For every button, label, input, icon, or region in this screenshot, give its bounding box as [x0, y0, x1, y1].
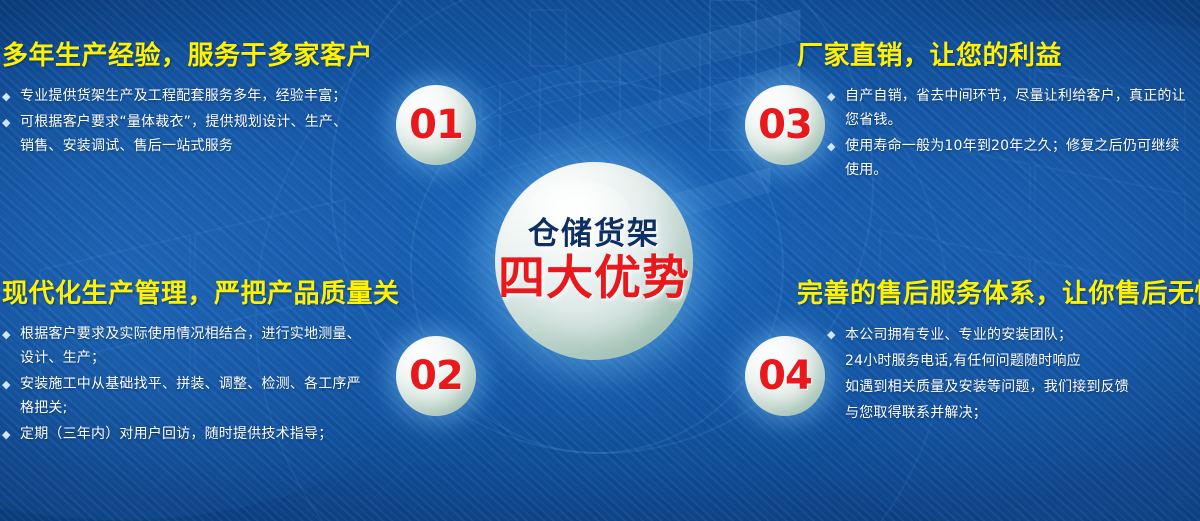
bullet-diamond-icon: ◆ — [2, 329, 20, 340]
center-title-bottom: 四大优势 — [498, 254, 690, 303]
bullet-diamond-icon: ◆ — [2, 429, 20, 440]
section-heading: 完善的售后服务体系，让你售后无忧 — [797, 280, 1197, 309]
advantage-section-02: 现代化生产管理，严把产品质量关 ◆根据客户要求及实际使用情况相结合，进行实地测量… — [2, 280, 402, 448]
number-badge-01: 01 — [396, 85, 476, 165]
advantage-section-01: 多年生产经验，服务于多家客户 ◆专业提供货架生产及工程配套服务多年，经验丰富；◆… — [2, 42, 402, 160]
bullet-item: ◆使用寿命一般为10年到20年之久；修复之后仍可继续使用。 — [827, 134, 1197, 182]
bullet-text: 定期（三年内）对用户回访，随时提供技术指导； — [20, 422, 332, 446]
bullet-line: 专业提供货架生产及工程配套服务多年，经验丰富； — [20, 84, 347, 108]
badge-number-label: 02 — [409, 356, 463, 396]
section-bullet-list: ◆自产自销，省去中间环节，尽量让利给客户，真正的让您省钱。◆使用寿命一般为10年… — [827, 84, 1197, 182]
bullet-line: 安装施工中从基础找平、拼装、调整、检测、各工序严 — [20, 372, 361, 396]
bullet-line: 销售、安装调试、售后一站式服务 — [20, 134, 347, 158]
bullet-line: 您省钱。 — [845, 108, 1186, 132]
infographic-canvas: 仓储货架 四大优势 01 02 03 04 多年生产经验，服务于多家客户 ◆专业… — [0, 0, 1200, 521]
bullet-diamond-icon: ◆ — [2, 117, 20, 128]
bullet-text: 根据客户要求及实际使用情况相结合，进行实地测量、设计、生产； — [20, 322, 361, 370]
section-heading: 多年生产经验，服务于多家客户 — [2, 42, 402, 71]
center-title-top: 仓储货架 — [528, 219, 660, 250]
bullet-line: 格把关; — [20, 396, 361, 420]
section-bullet-list: ◆根据客户要求及实际使用情况相结合，进行实地测量、设计、生产；◆安装施工中从基础… — [2, 322, 402, 446]
bullet-line: 24小时服务电话,有任何问题随时响应 — [845, 348, 1129, 374]
badge-number-label: 01 — [409, 105, 463, 145]
bullet-item: ◆根据客户要求及实际使用情况相结合，进行实地测量、设计、生产； — [2, 322, 402, 370]
bullet-text: 可根据客户要求“量体裁衣”，提供规划设计、生产、销售、安装调试、售后一站式服务 — [20, 110, 347, 158]
advantage-section-03: 厂家直销，让您的利益 ◆自产自销，省去中间环节，尽量让利给客户，真正的让您省钱。… — [797, 42, 1197, 184]
bullet-text: 专业提供货架生产及工程配套服务多年，经验丰富； — [20, 84, 347, 108]
bullet-text: 安装施工中从基础找平、拼装、调整、检测、各工序严格把关; — [20, 372, 361, 420]
bullet-line: 自产自销，省去中间环节，尽量让利给客户，真正的让 — [845, 84, 1186, 108]
bullet-diamond-icon: ◆ — [2, 379, 20, 390]
bullet-line: 根据客户要求及实际使用情况相结合，进行实地测量、 — [20, 322, 361, 346]
bullet-diamond-icon: ◆ — [2, 91, 20, 102]
bullet-diamond-icon: ◆ — [827, 91, 845, 102]
bullet-line: 与您取得联系并解决； — [845, 400, 1129, 426]
bullet-line: 如遇到相关质量及安装等问题，我们接到反馈 — [845, 374, 1129, 400]
bullet-line: 本公司拥有专业、专业的安装团队； — [845, 322, 1129, 348]
advantage-section-04: 完善的售后服务体系，让你售后无忧 ◆本公司拥有专业、专业的安装团队；24小时服务… — [797, 280, 1197, 428]
bullet-item: ◆安装施工中从基础找平、拼装、调整、检测、各工序严格把关; — [2, 372, 402, 420]
section-heading: 厂家直销，让您的利益 — [797, 42, 1197, 71]
center-title-sphere: 仓储货架 四大优势 — [495, 162, 693, 360]
bullet-line: 使用。 — [845, 158, 1180, 182]
bullet-line: 定期（三年内）对用户回访，随时提供技术指导； — [20, 422, 332, 446]
bullet-line: 使用寿命一般为10年到20年之久；修复之后仍可继续 — [845, 134, 1180, 158]
section-bullet-list: ◆本公司拥有专业、专业的安装团队；24小时服务电话,有任何问题随时响应如遇到相关… — [827, 322, 1197, 426]
section-heading: 现代化生产管理，严把产品质量关 — [2, 280, 402, 309]
bullet-item: ◆自产自销，省去中间环节，尽量让利给客户，真正的让您省钱。 — [827, 84, 1197, 132]
bullet-diamond-icon: ◆ — [827, 329, 845, 340]
bullet-text: 使用寿命一般为10年到20年之久；修复之后仍可继续使用。 — [845, 134, 1180, 182]
bullet-item: ◆定期（三年内）对用户回访，随时提供技术指导； — [2, 422, 402, 446]
bullet-text: 自产自销，省去中间环节，尽量让利给客户，真正的让您省钱。 — [845, 84, 1186, 132]
bullet-line: 设计、生产； — [20, 346, 361, 370]
bullet-item: ◆专业提供货架生产及工程配套服务多年，经验丰富； — [2, 84, 402, 108]
bullet-line: 可根据客户要求“量体裁衣”，提供规划设计、生产、 — [20, 110, 347, 134]
bullet-diamond-icon: ◆ — [827, 141, 845, 152]
number-badge-02: 02 — [396, 336, 476, 416]
bullet-item: ◆本公司拥有专业、专业的安装团队；24小时服务电话,有任何问题随时响应如遇到相关… — [827, 322, 1197, 426]
bullet-item: ◆可根据客户要求“量体裁衣”，提供规划设计、生产、销售、安装调试、售后一站式服务 — [2, 110, 402, 158]
section-bullet-list: ◆专业提供货架生产及工程配套服务多年，经验丰富；◆可根据客户要求“量体裁衣”，提… — [2, 84, 402, 158]
bullet-text: 本公司拥有专业、专业的安装团队；24小时服务电话,有任何问题随时响应如遇到相关质… — [845, 322, 1129, 426]
